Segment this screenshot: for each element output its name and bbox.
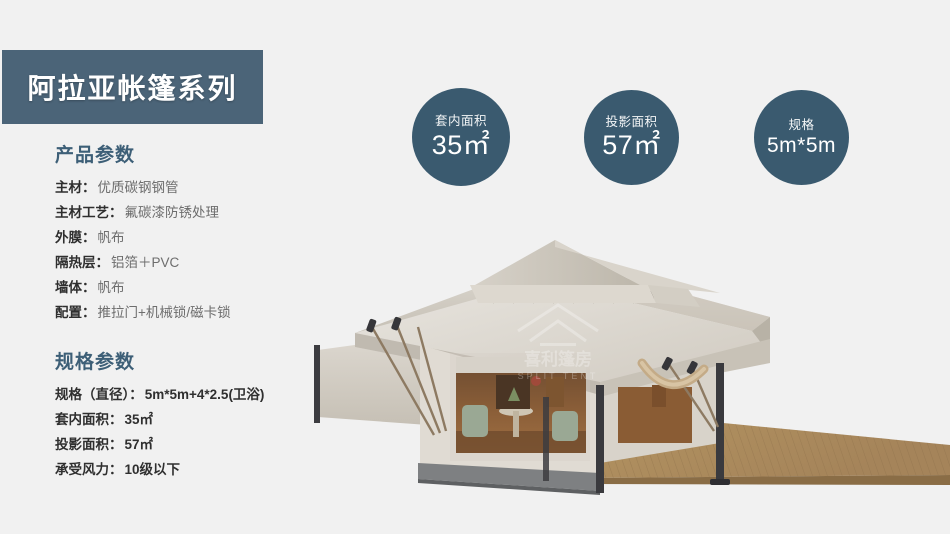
spec-value: 10级以下 [123,462,181,477]
stat-circle-interior-area: 套内面积 35㎡ [412,88,510,186]
param-key: 隔热层： [55,255,109,270]
param-key: 主材工艺： [55,205,123,220]
param-value: 推拉门+机械锁/磁卡锁 [96,305,231,320]
spec-key: 投影面积： [55,437,123,452]
stat-value: 5m*5m [767,135,836,156]
tent-illustration: 喜利篷房 SPLIT TENT [300,235,950,505]
upper-roof-peak [470,240,720,307]
slide-canvas: 阿拉亚帐篷系列 产品参数 主材：优质碳钢钢管 主材工艺：氟碳漆防锈处理 外膜：帆… [0,0,950,534]
param-value: 铝箔＋PVC [109,255,179,270]
title-banner: 阿拉亚帐篷系列 [2,50,263,124]
param-key: 墙体： [55,280,96,295]
list-item: 隔热层：铝箔＋PVC [55,250,320,275]
list-item: 主材工艺：氟碳漆防锈处理 [55,200,320,225]
list-item: 墙体：帆布 [55,275,320,300]
product-params-list: 主材：优质碳钢钢管 主材工艺：氟碳漆防锈处理 外膜：帆布 隔热层：铝箔＋PVC … [0,175,320,325]
list-item: 套内面积：35㎡ [55,407,320,432]
stat-label: 规格 [788,119,814,132]
param-key: 配置： [55,305,96,320]
param-value: 优质碳钢钢管 [96,180,179,195]
list-item: 配置：推拉门+机械锁/磁卡锁 [55,300,320,325]
param-key: 主材： [55,180,96,195]
param-value: 帆布 [96,280,125,295]
stat-label: 投影面积 [605,116,657,129]
watermark-text: 喜利篷房 [524,349,592,369]
spec-value: 5m*5m+4*2.5(卫浴) [143,387,265,402]
spec-params-heading: 规格参数 [55,347,320,374]
spec-params-list: 规格（直径）：5m*5m+4*2.5(卫浴) 套内面积：35㎡ 投影面积：57㎡… [0,382,320,482]
page-title: 阿拉亚帐篷系列 [27,67,237,107]
info-panel: 产品参数 主材：优质碳钢钢管 主材工艺：氟碳漆防锈处理 外膜：帆布 隔热层：铝箔… [0,140,320,482]
stat-circle-dimensions: 规格 5m*5m [754,90,849,185]
spec-value: 57㎡ [123,437,154,452]
param-value: 氟碳漆防锈处理 [123,205,220,220]
spec-key: 规格（直径）： [55,387,143,402]
stat-value: 35㎡ [432,132,491,159]
list-item: 规格（直径）：5m*5m+4*2.5(卫浴) [55,382,320,407]
list-item: 投影面积：57㎡ [55,432,320,457]
list-item: 主材：优质碳钢钢管 [55,175,320,200]
stat-label: 套内面积 [435,115,487,128]
param-value: 帆布 [96,230,125,245]
list-item: 外膜：帆布 [55,225,320,250]
spec-key: 套内面积： [55,412,123,427]
product-params-heading: 产品参数 [55,140,320,167]
spec-value: 35㎡ [123,412,154,427]
stat-circle-projected-area: 投影面积 57㎡ [584,90,679,185]
list-item: 承受风力：10级以下 [55,457,320,482]
param-key: 外膜： [55,230,96,245]
stat-value: 57㎡ [602,132,661,159]
spec-key: 承受风力： [55,462,123,477]
watermark-subtext: SPLIT TENT [518,371,599,381]
